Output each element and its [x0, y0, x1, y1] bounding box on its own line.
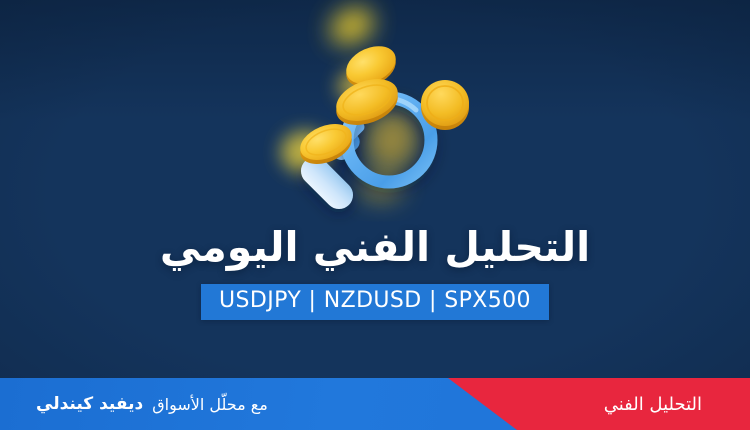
- presenter-name: ديفيد كيندلي: [36, 394, 143, 414]
- presenter-credit: مع محلّل الأسواق ديفيد كيندلي: [36, 378, 268, 430]
- bottom-bar: مع محلّل الأسواق ديفيد كيندلي التحليل ال…: [0, 378, 750, 430]
- promo-banner: التحليل الفني اليومي USDJPY | NZDUSD | S…: [0, 0, 750, 430]
- page-title: التحليل الفني اليومي: [0, 222, 750, 273]
- instruments-badge-wrap: USDJPY | NZDUSD | SPX500: [0, 284, 750, 320]
- background-top-shade: [0, 0, 750, 120]
- section-label: التحليل الفني: [604, 378, 702, 430]
- presenter-with-label: مع محلّل الأسواق: [152, 395, 268, 414]
- instruments-badge: USDJPY | NZDUSD | SPX500: [201, 284, 549, 320]
